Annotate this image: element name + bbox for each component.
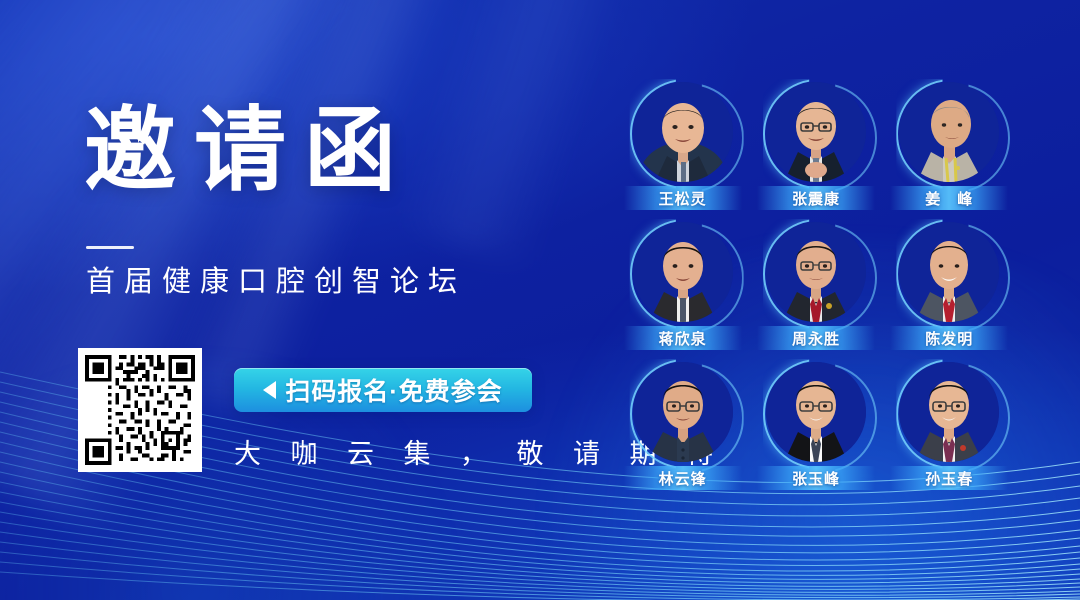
speaker-name: 孙玉春 bbox=[925, 468, 973, 489]
qr-code-icon bbox=[85, 355, 195, 465]
speaker-card[interactable]: 张震康 bbox=[749, 82, 882, 222]
speaker-grid: 王松灵 bbox=[616, 82, 1016, 502]
speaker-card[interactable]: 林云锋 bbox=[616, 362, 749, 502]
page-subtitle: 首届健康口腔创智论坛 bbox=[86, 268, 466, 297]
speaker-card[interactable]: 孙玉春 bbox=[883, 362, 1016, 502]
speaker-card[interactable]: 周永胜 bbox=[749, 222, 882, 362]
speaker-name: 陈发明 bbox=[925, 328, 973, 349]
speaker-name: 张震康 bbox=[792, 188, 840, 209]
scan-register-button[interactable]: 扫码报名·免费参会 bbox=[234, 368, 532, 412]
qr-code[interactable] bbox=[78, 348, 202, 472]
speaker-name-plate: 林云锋 bbox=[624, 466, 742, 490]
page-title: 邀请函 bbox=[84, 105, 414, 197]
speaker-name: 周永胜 bbox=[792, 328, 840, 349]
speaker-card[interactable]: 陈发明 bbox=[883, 222, 1016, 362]
speaker-card[interactable]: 张玉峰 bbox=[749, 362, 882, 502]
avatar-ring-wrap bbox=[766, 222, 866, 322]
speaker-name-plate: 姜 峰 bbox=[890, 186, 1008, 210]
arrow-left-icon bbox=[263, 381, 276, 399]
speaker-name-plate: 蒋欣泉 bbox=[624, 326, 742, 350]
scan-register-label: 扫码报名·免费参会 bbox=[285, 372, 502, 408]
avatar-ring-wrap bbox=[633, 222, 733, 322]
avatar-ring-wrap bbox=[899, 362, 999, 462]
avatar-ring-wrap bbox=[633, 82, 733, 182]
speaker-name-plate: 孙玉春 bbox=[890, 466, 1008, 490]
speaker-name: 姜 峰 bbox=[925, 188, 973, 209]
avatar-ring-wrap bbox=[766, 82, 866, 182]
avatar-ring-wrap bbox=[899, 222, 999, 322]
speaker-name: 张玉峰 bbox=[792, 468, 840, 489]
speaker-card[interactable]: 姜 峰 bbox=[883, 82, 1016, 222]
left-content: 邀请函 首届健康口腔创智论坛 bbox=[0, 0, 600, 600]
speaker-name: 蒋欣泉 bbox=[659, 328, 707, 349]
speaker-card[interactable]: 王松灵 bbox=[616, 82, 749, 222]
speaker-name-plate: 张玉峰 bbox=[757, 466, 875, 490]
avatar-ring-wrap bbox=[766, 362, 866, 462]
speaker-name-plate: 周永胜 bbox=[757, 326, 875, 350]
invitation-poster: 邀请函 首届健康口腔创智论坛 bbox=[0, 0, 1080, 600]
avatar-ring-wrap bbox=[633, 362, 733, 462]
speaker-name-plate: 陈发明 bbox=[890, 326, 1008, 350]
speaker-card[interactable]: 蒋欣泉 bbox=[616, 222, 749, 362]
speaker-name-plate: 王松灵 bbox=[624, 186, 742, 210]
title-divider bbox=[86, 246, 134, 249]
avatar-ring-wrap bbox=[899, 82, 999, 182]
speaker-name: 王松灵 bbox=[659, 188, 707, 209]
speaker-name: 林云锋 bbox=[659, 468, 707, 489]
speaker-name-plate: 张震康 bbox=[757, 186, 875, 210]
